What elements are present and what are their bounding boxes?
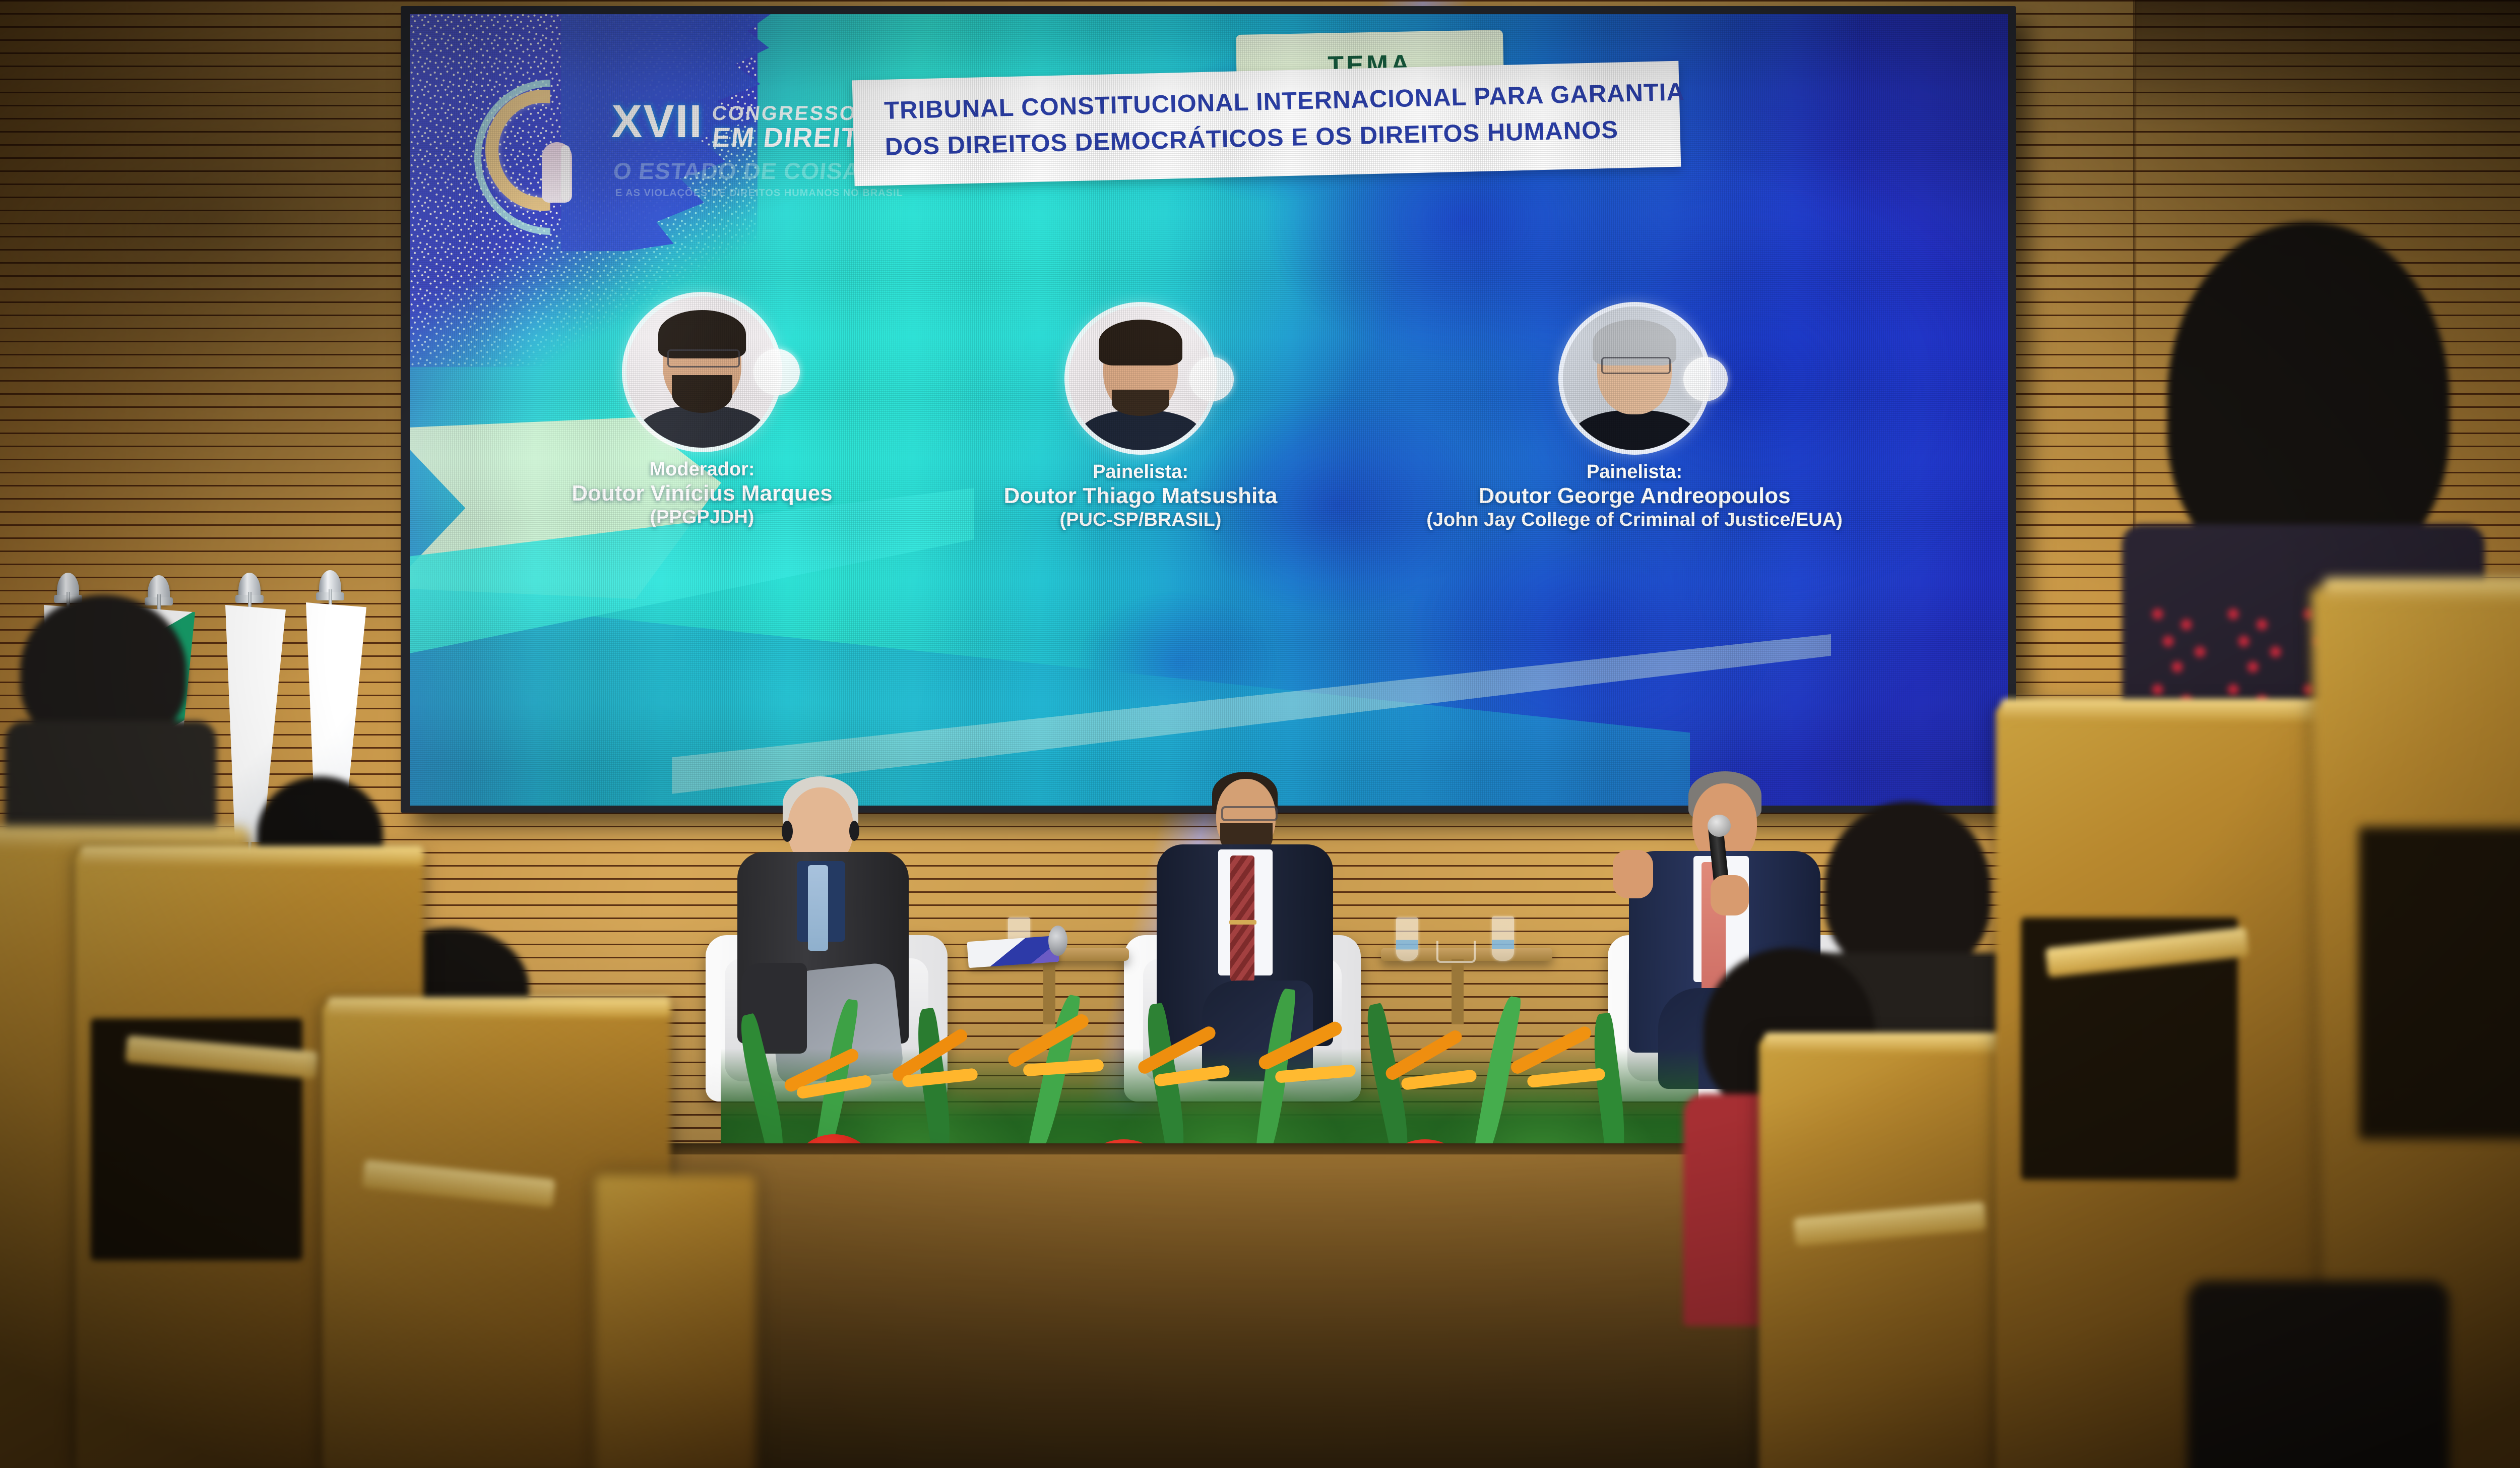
slide-speaker-painelista-2: Painelista: Doutor George Andreopoulos (… [1352, 307, 1917, 532]
speaker-org-3: (John Jay College of Criminal of Justice… [1352, 509, 1917, 532]
congress-emblem-icon [485, 90, 601, 211]
headset-icon [782, 821, 793, 842]
speaker-name-1: Doutor Vinícius Marques [500, 481, 904, 507]
theme-banner: TRIBUNAL CONSTITUCIONAL INTERNACIONAL PA… [852, 61, 1681, 187]
slide-speaker-moderador: Moderador: Doutor Vinícius Marques (PPGP… [500, 296, 904, 529]
water-glass [1396, 917, 1418, 961]
speaker-role-1: Moderador: [500, 459, 904, 481]
headset-icon [849, 821, 859, 841]
panelist-right-gesturing-hand [1613, 850, 1653, 898]
tie-clip [1229, 920, 1256, 925]
panelist-center-tie [1230, 855, 1254, 982]
logo-roman-numeral: XVII [611, 101, 703, 143]
led-screen-surface: XVII CONGRESSO INTERNACIONAL EM DIREITOS… [410, 14, 2008, 806]
logo-subtitle-small: E AS VIOLAÇÕES DE DIREITOS HUMANOS NO BR… [615, 188, 903, 199]
audience-seat-left-4 [595, 1175, 756, 1468]
speaker-badge-3 [1683, 357, 1728, 401]
table-microphone-icon [1048, 926, 1067, 956]
panelist-left-tie [808, 865, 828, 951]
speaker-badge-2 [1189, 357, 1234, 401]
led-video-wall: XVII CONGRESSO INTERNACIONAL EM DIREITOS… [401, 6, 2016, 813]
speaker-badge-1 [753, 349, 800, 395]
slide-speaker-painelista-1: Painelista: Doutor Thiago Matsushita (PU… [939, 307, 1342, 532]
speaker-name-2: Doutor Thiago Matsushita [939, 483, 1342, 509]
speaker-role-3: Painelista: [1352, 461, 1917, 483]
auditorium-scene: XVII CONGRESSO INTERNACIONAL EM DIREITOS… [0, 0, 2520, 1468]
audience-member-right-4 [2187, 1250, 2449, 1468]
speaker-org-2: (PUC-SP/BRASIL) [939, 509, 1342, 532]
microphone-head-icon [1708, 815, 1731, 837]
speaker-org-1: (PPGPJDH) [500, 506, 904, 529]
speaker-role-2: Painelista: [939, 461, 1342, 483]
water-glass [1492, 916, 1514, 961]
eyeglasses-icon [1221, 806, 1278, 821]
speaker-name-3: Doutor George Andreopoulos [1352, 483, 1917, 509]
glass-holder [1436, 941, 1476, 963]
